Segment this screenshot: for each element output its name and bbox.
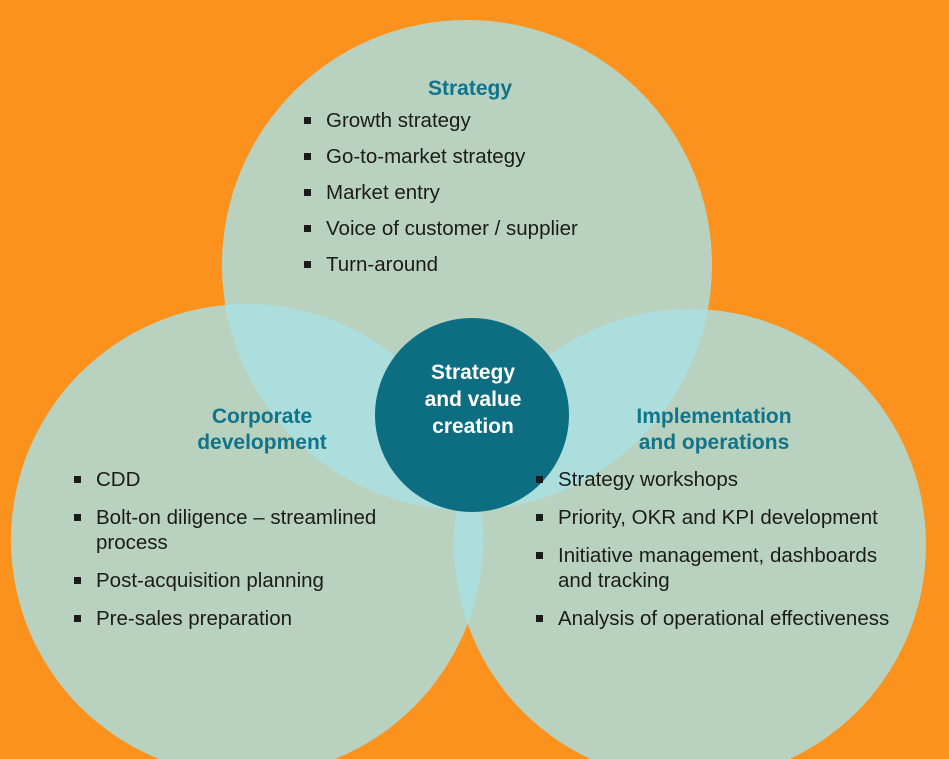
list-item-label: Bolt-on diligence – streamlined process	[96, 506, 376, 554]
bullet-square-icon	[304, 153, 311, 160]
list-item: Growth strategy	[302, 108, 670, 133]
list-item-label: Post-acquisition planning	[96, 569, 324, 592]
bullet-square-icon	[536, 514, 543, 521]
lobe-strategy: Strategy Growth strategy Go-to-market st…	[270, 76, 670, 288]
bullet-square-icon	[304, 117, 311, 124]
bullet-square-icon	[74, 577, 81, 584]
list-item-label: Growth strategy	[326, 109, 471, 132]
list-item-label: Market entry	[326, 181, 440, 204]
list-item-label: Voice of customer / supplier	[326, 217, 578, 240]
bullet-square-icon	[536, 476, 543, 483]
bullet-square-icon	[74, 476, 81, 483]
bullet-square-icon	[304, 261, 311, 268]
hub-label: Strategy and value creation	[375, 360, 571, 441]
hub-label-line: and value	[375, 387, 571, 414]
bullet-square-icon	[304, 189, 311, 196]
list-item-label: Strategy workshops	[558, 468, 738, 491]
bullet-square-icon	[304, 225, 311, 232]
list-item: Turn-around	[302, 252, 670, 277]
list-item-label: CDD	[96, 468, 140, 491]
list-item: Post-acquisition planning	[72, 568, 452, 593]
title-line: Implementation	[534, 404, 894, 430]
lobe-implementation-operations: Implementation and operations Strategy w…	[534, 404, 894, 644]
bullet-square-icon	[536, 615, 543, 622]
list-item: Analysis of operational effectiveness	[534, 606, 894, 631]
lobe-implementation-operations-title: Implementation and operations	[534, 404, 894, 455]
list-item: Go-to-market strategy	[302, 144, 670, 169]
hub-label-line: Strategy	[375, 360, 571, 387]
list-item: Initiative management, dashboards and tr…	[534, 543, 894, 593]
hub-label-line: creation	[375, 414, 571, 441]
venn-diagram: Strategy Growth strategy Go-to-market st…	[0, 0, 949, 759]
title-line: and operations	[534, 430, 894, 456]
list-item-label: Analysis of operational effectiveness	[558, 607, 889, 630]
list-item: Voice of customer / supplier	[302, 216, 670, 241]
list-item: Pre-sales preparation	[72, 606, 452, 631]
lobe-strategy-bullet-list: Growth strategy Go-to-market strategy Ma…	[270, 108, 670, 277]
list-item-label: Pre-sales preparation	[96, 607, 292, 630]
list-item-label: Priority, OKR and KPI development	[558, 506, 878, 529]
list-item: Bolt-on diligence – streamlined process	[72, 505, 452, 555]
list-item-label: Turn-around	[326, 253, 438, 276]
list-item: Priority, OKR and KPI development	[534, 505, 894, 530]
bullet-square-icon	[536, 552, 543, 559]
lobe-corporate-development-bullet-list: CDD Bolt-on diligence – streamlined proc…	[72, 467, 452, 631]
list-item-label: Initiative management, dashboards and tr…	[558, 544, 877, 592]
bullet-square-icon	[74, 615, 81, 622]
list-item-label: Go-to-market strategy	[326, 145, 525, 168]
lobe-strategy-title: Strategy	[270, 76, 670, 102]
lobe-implementation-operations-bullet-list: Strategy workshops Priority, OKR and KPI…	[534, 467, 894, 631]
bullet-square-icon	[74, 514, 81, 521]
list-item: Market entry	[302, 180, 670, 205]
list-item: Strategy workshops	[534, 467, 894, 492]
list-item: CDD	[72, 467, 452, 492]
